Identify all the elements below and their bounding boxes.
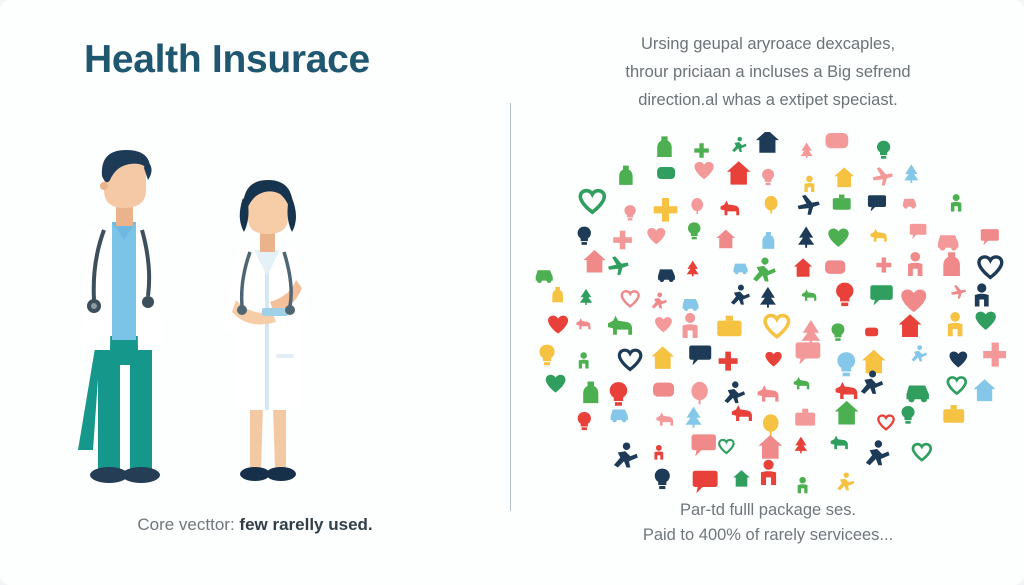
tractor-icon [974,379,996,401]
right-caption: Par-td fulll package ses. Paid to 400% o… [512,498,1024,548]
tag-icon [870,229,886,242]
snail-icon [837,472,854,490]
stack-yellow-icon [825,260,845,274]
clover-cross-icon [683,313,698,338]
music-note-icon [552,287,563,302]
right-paragraph-line: direction.al whas a extipet speciast. [528,86,1008,114]
question-balloon-icon [654,198,678,222]
house-up-icon [908,252,922,276]
vertical-divider [510,103,511,511]
heart-blue-icon [717,316,741,337]
person-pink-icon [951,194,961,211]
bulb-icon [655,469,670,489]
heart-outline-red-icon [831,323,844,341]
suitcase-dollar-icon [831,436,848,450]
heart-balloon2-icon [653,383,674,397]
scissors-icon [906,386,928,403]
music-icon [976,312,996,330]
whistle-icon [836,382,858,399]
battery-icon [758,385,779,401]
money-bag-icon [619,166,632,185]
lock-icon [758,435,782,459]
lightbulb-big-icon [719,352,738,371]
right-paragraph-line: Ursing geupal aryroace dexcaples, [528,30,1008,58]
pill-icon [948,312,963,336]
bag-yellow-icon [656,412,673,425]
basket-icon [734,264,748,275]
chat-blue-icon [580,289,592,305]
glasses-icon [611,409,628,422]
tshirt-icon [693,471,718,493]
person-blue-icon [938,235,959,250]
fence-icon [796,342,821,364]
bone-icon [949,351,967,367]
broom-icon [651,346,674,369]
headphone-icon [614,442,638,467]
thermometer-icon [912,345,927,361]
spoon-icon [828,229,848,247]
truck-green-icon [795,437,808,454]
ball-red-icon [861,370,883,393]
horseshoe-icon [580,191,604,213]
wheat-icon [981,229,999,245]
person-coral-icon [655,317,672,332]
left-caption: Core vecttor: few rarelly used. [0,515,510,535]
heart-balloon-icon [727,161,750,184]
heart-outline-icon [683,299,699,311]
wheel-icon [546,375,566,393]
lamp-icon [903,199,916,209]
sofa-icon [836,283,853,306]
flower-icon [691,382,707,405]
jar-icon [732,137,746,152]
icon-collage [534,132,1006,494]
temple-icon [837,352,855,376]
capsule-icon [866,440,890,465]
dog-icon [692,434,716,456]
test-tube-icon [719,440,733,453]
coin-balloon-icon [943,252,960,276]
suitcase-green-icon [687,261,699,277]
bottle-icon [657,136,672,157]
camera-icon [804,176,814,192]
right-paragraph-line: throur priciaan a incluses a Big sefrend [528,58,1008,86]
person-walking-icon [536,270,553,283]
female-doctor-figure [224,180,310,481]
person-man-icon [608,316,632,335]
car-red-icon [654,445,663,460]
snowflake-icon [733,470,750,487]
heart-small-icon [695,162,714,179]
plus-cross-icon [721,201,740,216]
plus-red-icon [652,292,667,308]
trophy-icon [756,132,779,153]
dancer-icon [691,198,703,214]
briefcase-icon [622,291,639,306]
magnifier-icon [761,460,776,485]
heart-icon [624,205,635,220]
note-icon [795,409,815,426]
left-panel: Health Insurace [0,0,510,585]
person-pink-icon [910,224,927,239]
speech-heart-icon [760,287,776,308]
coin-balloon-icon [801,143,813,159]
house-blue-icon [862,350,886,374]
chat-icon [913,444,931,460]
lightbulb-icon [834,167,854,187]
vase-icon [694,143,708,157]
person-icon [868,195,886,211]
runner-icon [877,141,890,159]
printer-icon [826,133,849,148]
banana-icon [753,258,776,282]
plane-icon [798,195,820,215]
heart-yellow-icon [583,250,605,272]
hook-icon [983,343,1006,367]
cross-red-icon [798,477,808,493]
heart-tiny-icon [904,164,918,183]
ball-icon [576,318,590,329]
ring-icon [765,196,778,214]
airplane-icon [657,167,675,179]
flame-icon [975,283,989,306]
balloon-tiny-icon [765,316,789,337]
person-yellow-icon [731,285,750,305]
right-paragraph: Ursing geupal aryroace dexcaples, throur… [528,30,1008,114]
person-gold-icon [865,328,878,337]
mask-icon [835,401,859,425]
male-doctor-figure [78,150,164,483]
magnet-icon [688,222,701,239]
snowman-icon [901,290,926,313]
heart-red-small-icon [539,345,554,366]
runner-red-icon [878,416,893,430]
racket-icon [689,345,711,365]
bird-icon [658,269,675,282]
cake-icon [685,407,701,428]
tree-icon [762,169,774,185]
bag-icon [802,289,816,300]
piggy-icon [794,258,812,276]
left-caption-prefix: Core vecttor: [137,515,239,534]
heart-pink-icon [647,228,665,244]
bracket-icon [724,381,745,403]
phone-icon [899,314,922,337]
cane-icon [870,285,892,305]
balloon-yellow-icon [763,414,779,435]
dinosaur-icon [762,232,774,249]
cup-icon [619,350,640,369]
page-title: Health Insurace [84,38,370,82]
pillow-icon [765,352,781,367]
two-doctors-illustration [60,150,390,495]
house-yellow-icon [610,382,628,406]
cross-icon [798,226,814,247]
snow-icon [948,377,966,393]
money-jar-icon [979,257,1002,278]
van-icon [578,227,591,245]
person-icon [833,195,851,210]
heart-red-icon [583,382,598,404]
right-panel: Ursing geupal aryroace dexcaples, throur… [512,0,1024,585]
left-caption-strong: few rarelly used. [239,515,372,534]
person-woman-icon [548,316,568,334]
bottle-dark-icon [732,405,752,421]
right-caption-line: Paid to 400% of rarely servicees... [512,523,1024,548]
stethoscope-icon [578,412,591,430]
slide-canvas: Health Insurace [0,0,1024,585]
right-caption-line: Par-td fulll package ses. [512,498,1024,523]
lantern-icon [716,230,735,249]
plus-blue-icon [951,285,966,298]
cocktail-icon [876,258,891,273]
stack-yellow2-icon [802,320,821,344]
badge-icon [579,352,589,368]
ticket-icon [794,377,810,389]
balloon-icon [873,167,893,185]
home-icon [943,405,964,423]
stack-icon [613,231,632,250]
gift-icon [901,406,914,424]
bowtie-icon [608,256,629,275]
